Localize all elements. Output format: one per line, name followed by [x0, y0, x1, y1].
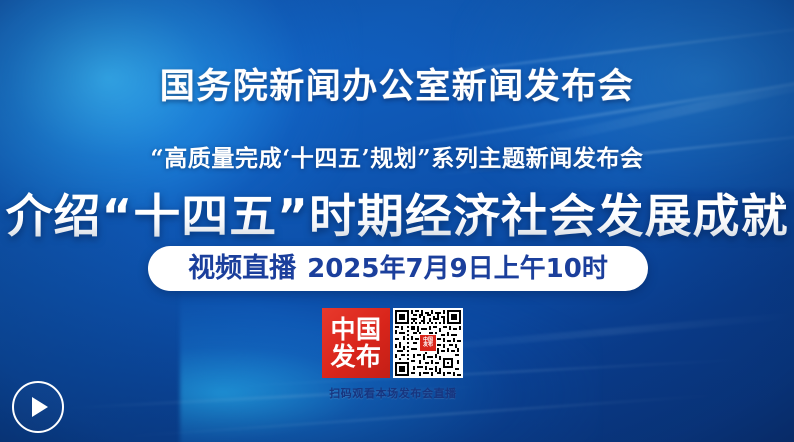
brand-logo-line2: 发布: [330, 344, 381, 370]
headline: 介绍“十四五”时期经济社会发展成就: [0, 180, 794, 246]
main-title: 国务院新闻办公室新闻发布会: [0, 58, 794, 109]
brand-logo-line1: 中国: [330, 317, 381, 343]
qr-caption: 扫码观看本场发布会直播: [322, 385, 464, 401]
live-label: 视频直播: [188, 255, 296, 282]
qr-center-line2: 发布: [423, 343, 433, 348]
series-subtitle: “高质量完成‘十四五’规划”系列主题新闻发布会: [0, 139, 794, 173]
broadcast-poster: 国务院新闻办公室新闻发布会 “高质量完成‘十四五’规划”系列主题新闻发布会 介绍…: [0, 0, 794, 442]
play-triangle-icon: [32, 397, 48, 417]
live-broadcast-pill[interactable]: 视频直播 2025年7月9日上午10时: [148, 246, 648, 291]
poster-content: 国务院新闻办公室新闻发布会 “高质量完成‘十四五’规划”系列主题新闻发布会 介绍…: [0, 0, 794, 442]
qr-center-brand-logo: 中国 发布: [419, 334, 437, 352]
qr-row: 中国 发布: [322, 308, 464, 378]
qr-code[interactable]: 中国 发布: [393, 308, 463, 378]
qr-block: 中国 发布: [322, 308, 464, 401]
play-button[interactable]: [12, 381, 64, 433]
brand-logo: 中国 发布: [322, 308, 390, 378]
live-datetime: 2025年7月9日上午10时: [307, 256, 608, 282]
